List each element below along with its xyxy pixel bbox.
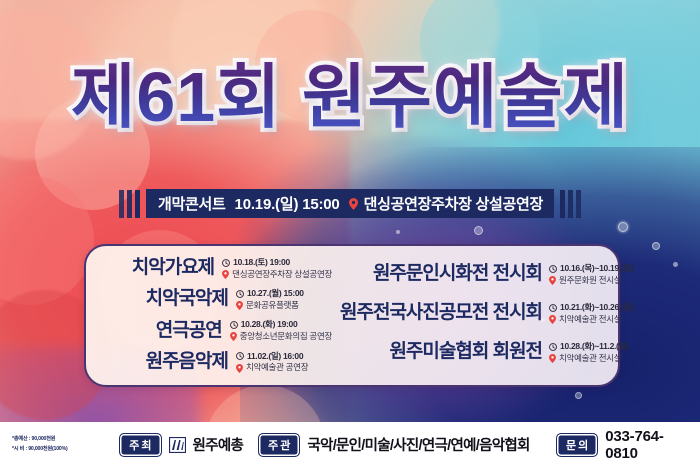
budget-total: *총예산 : 90,000천원 (12, 435, 99, 444)
event-meta: 10.16.(목)~10.19.(일) 원주문화원 전시실 (549, 263, 667, 286)
host-group: 주최 원주예총 (119, 433, 243, 457)
location-pin-icon (236, 301, 243, 310)
event-date-line: 10.28.(화)~11.2.(일) (549, 341, 667, 353)
clock-icon (222, 259, 230, 267)
poster-title-area: 제61회 원주예술제 제61회 원주예술제 (0, 62, 700, 132)
event-meta: 10.21.(화)~10.26.(일) 치악예술관 전시실 (549, 302, 667, 325)
opening-venue: 댄싱공연장주차장 상설공연장 (364, 193, 543, 214)
event-date: 10.18.(토) 19:00 (233, 257, 290, 269)
event-meta: 10.18.(토) 19:00 댄싱공연장주차장 상설공연장 (222, 257, 332, 280)
poster-footer: *총예산 : 90,000천원 *시 비 : 90,000천원(100%) 주최… (0, 422, 700, 467)
event-venue: 원주문화원 전시실 (559, 275, 621, 287)
event-venue: 치악예술관 전시실 (559, 314, 621, 326)
event-meta: 10.28.(화) 19:00 중앙청소년문화의집 공연장 (230, 319, 332, 342)
list-item: 원주문인시화전 전시회 10.16.(목)~10.19.(일) 원주문화원 전시… (340, 263, 667, 286)
list-item: 원주전국사진공모전 전시회 10.21.(화)~10.26.(일) 치악예술관 … (340, 302, 667, 325)
location-pin-icon (549, 354, 556, 363)
bubble-dot (673, 262, 678, 267)
left-tick-marks (119, 190, 140, 218)
event-name: 연극공연 (96, 321, 222, 342)
exhibition-list: 원주문인시화전 전시회 10.16.(목)~10.19.(일) 원주문화원 전시… (332, 255, 667, 376)
location-pin-icon (349, 198, 358, 210)
event-venue: 댄싱공연장주차장 상설공연장 (232, 269, 332, 281)
event-date: 10.28.(화)~11.2.(일) (560, 341, 629, 353)
organizer-badge: 주관 (258, 433, 300, 457)
poster-title: 제61회 원주예술제 (71, 62, 629, 132)
right-tick-marks (560, 190, 581, 218)
event-meta: 10.28.(화)~11.2.(일) 치악예술관 전시실 (549, 341, 667, 364)
event-date: 10.21.(화)~10.26.(일) (560, 302, 634, 314)
location-pin-icon (230, 332, 237, 341)
event-venue-line: 댄싱공연장주차장 상설공연장 (222, 269, 332, 281)
event-date-line: 11.02.(일) 16:00 (236, 351, 308, 363)
festival-poster: 제61회 원주예술제 제61회 원주예술제 개막콘서트 10.19.(일) 15… (0, 0, 700, 467)
event-date-line: 10.28.(화) 19:00 (230, 319, 332, 331)
bubble-dot (618, 222, 628, 232)
list-item: 연극공연 10.28.(화) 19:00 중앙청소년문화의집 공연장 (96, 319, 332, 342)
event-date-line: 10.21.(화)~10.26.(일) (549, 302, 667, 314)
event-name: 원주문인시화전 전시회 (373, 264, 542, 285)
location-pin-icon (222, 270, 229, 279)
event-date: 10.27.(월) 15:00 (247, 288, 304, 300)
inquiry-badge: 문의 (556, 433, 598, 457)
location-pin-icon (549, 315, 556, 324)
event-venue-line: 원주문화원 전시실 (549, 275, 667, 287)
inquiry-group: 문의 033-764-0810 (556, 428, 688, 462)
event-venue: 중앙청소년문화의집 공연장 (240, 331, 332, 343)
location-pin-icon (549, 276, 556, 285)
event-date-line: 10.27.(월) 15:00 (236, 288, 304, 300)
event-venue-line: 문화공유플랫폼 (236, 300, 304, 312)
bubble-dot (474, 226, 483, 235)
event-date: 10.16.(목)~10.19.(일) (560, 263, 634, 275)
clock-icon (236, 290, 244, 298)
bubble-dot (652, 242, 660, 250)
event-date: 10.28.(화) 19:00 (241, 319, 298, 331)
wonju-arts-logo-icon (169, 437, 186, 453)
event-date: 11.02.(일) 16:00 (247, 351, 303, 363)
event-venue-line: 치악예술관 공연장 (236, 362, 308, 374)
organizer-group: 주관 국악/문인/미술/사진/연극/연예/음악협회 (258, 433, 529, 457)
list-item: 치악가요제 10.18.(토) 19:00 댄싱공연장주차장 상설공연장 (96, 257, 332, 280)
opening-concert-bar: 개막콘서트 10.19.(일) 15:00 댄싱공연장주차장 상설공연장 (0, 189, 700, 218)
performance-list: 치악가요제 10.18.(토) 19:00 댄싱공연장주차장 상설공연장 치악국… (96, 255, 332, 376)
opening-label: 개막콘서트 (158, 193, 226, 214)
event-name: 원주전국사진공모전 전시회 (340, 303, 542, 324)
clock-icon (549, 265, 557, 273)
event-meta: 11.02.(일) 16:00 치악예술관 공연장 (236, 351, 308, 374)
event-venue-line: 치악예술관 전시실 (549, 314, 667, 326)
event-meta: 10.27.(월) 15:00 문화공유플랫폼 (236, 288, 304, 311)
program-card: 치악가요제 10.18.(토) 19:00 댄싱공연장주차장 상설공연장 치악국… (84, 244, 620, 387)
event-name: 치악국악제 (96, 289, 228, 310)
bubble-dot (396, 230, 400, 234)
event-venue: 문화공유플랫폼 (246, 300, 299, 312)
event-date-line: 10.18.(토) 19:00 (222, 257, 332, 269)
opening-date: 10.19.(일) 15:00 (235, 193, 340, 214)
event-venue: 치악예술관 공연장 (246, 362, 308, 374)
event-venue-line: 중앙청소년문화의집 공연장 (230, 331, 332, 343)
clock-icon (549, 304, 557, 312)
event-date-line: 10.16.(목)~10.19.(일) (549, 263, 667, 275)
location-pin-icon (236, 364, 243, 373)
opening-concert-banner: 개막콘서트 10.19.(일) 15:00 댄싱공연장주차장 상설공연장 (146, 189, 554, 218)
event-name: 치악가요제 (96, 258, 214, 279)
list-item: 원주미술협회 회원전 10.28.(화)~11.2.(일) 치악예술관 전시실 (340, 341, 667, 364)
host-name: 원주예총 (193, 434, 244, 455)
bubble-dot (575, 392, 582, 399)
clock-icon (236, 352, 244, 360)
inquiry-phone[interactable]: 033-764-0810 (605, 428, 688, 462)
host-badge: 주최 (119, 433, 161, 457)
list-item: 원주음악제 11.02.(일) 16:00 치악예술관 공연장 (96, 351, 332, 374)
clock-icon (549, 343, 557, 351)
list-item: 치악국악제 10.27.(월) 15:00 문화공유플랫폼 (96, 288, 332, 311)
budget-info: *총예산 : 90,000천원 *시 비 : 90,000천원(100%) (12, 435, 99, 453)
event-name: 원주음악제 (96, 352, 228, 373)
budget-city: *시 비 : 90,000천원(100%) (12, 445, 99, 454)
clock-icon (230, 321, 238, 329)
event-venue: 치악예술관 전시실 (559, 353, 621, 365)
event-name: 원주미술협회 회원전 (389, 342, 542, 363)
organizer-name: 국악/문인/미술/사진/연극/연예/음악협회 (307, 434, 529, 455)
event-venue-line: 치악예술관 전시실 (549, 353, 667, 365)
